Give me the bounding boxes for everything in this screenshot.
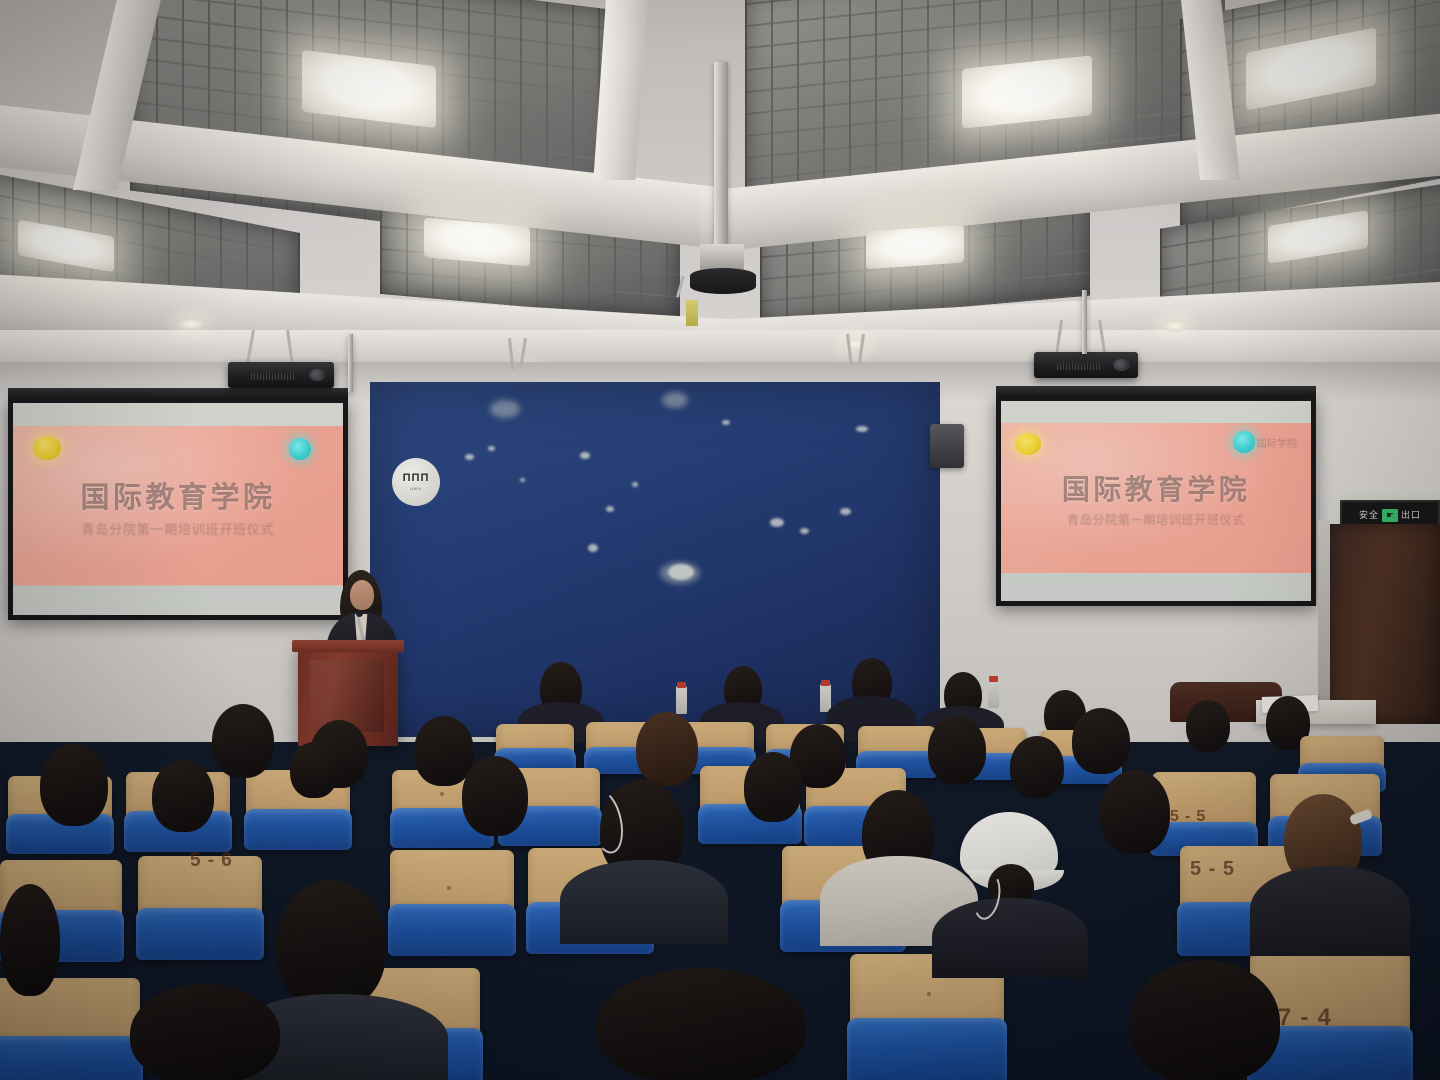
backdrop-smudge <box>770 518 784 527</box>
cyan-circle-logo <box>289 438 311 460</box>
attendee-head <box>290 742 338 798</box>
attendee-head <box>928 716 986 784</box>
seat-number-label: 5 - 5 <box>1190 858 1235 881</box>
attendee-head <box>596 968 806 1080</box>
seat-cushion <box>847 1018 1007 1080</box>
microphone-head <box>356 610 363 617</box>
attendee-head <box>636 712 698 786</box>
ceiling-light-panel <box>866 225 964 270</box>
attendee-shoulders <box>560 860 728 944</box>
seat-cushion <box>244 809 352 850</box>
seat-cushion <box>0 1036 143 1080</box>
attendee-head <box>1010 736 1064 798</box>
backdrop-smudge <box>465 454 474 460</box>
running-man-icon: ☛ <box>1382 509 1398 522</box>
projector-vent <box>1057 363 1101 370</box>
seat-cushion <box>388 904 517 956</box>
emblem-mark-text: ΠΠΠ <box>403 473 430 484</box>
left-projection-screen[interactable]: 国际教育学院 青岛分院第一期培训班开班仪式 <box>8 398 348 620</box>
left-screen-surface: 国际教育学院 青岛分院第一期培训班开班仪式 <box>13 403 343 615</box>
cyan-circle-logo <box>1233 431 1255 453</box>
projector-mount-head <box>700 244 744 270</box>
exit-sign-right-text: 出口 <box>1401 511 1421 520</box>
projector-pole-left <box>348 334 353 392</box>
left-slide-subtitle: 青岛分院第一期培训班开班仪式 <box>82 519 275 538</box>
right-screen-surface: 国际学院 国际教育学院 青岛分院第一期培训班开班仪式 <box>1001 401 1311 601</box>
right-slide-subtitle: 青岛分院第一期培训班开班仪式 <box>1067 511 1245 528</box>
door-frame <box>1318 520 1330 720</box>
gold-emblem-logo <box>1015 433 1041 455</box>
ceiling-projector-left <box>228 362 334 388</box>
emblem-sub-text: UNIV <box>410 486 422 491</box>
bottle-cap <box>677 682 686 688</box>
backdrop-smudge <box>800 528 809 534</box>
seat-cushion <box>136 908 265 960</box>
gold-emblem-logo <box>33 436 61 460</box>
backdrop-smudge <box>662 392 688 408</box>
bottle-cap <box>989 676 998 682</box>
attendee-shoulders <box>932 898 1088 978</box>
backdrop-smudge <box>606 506 614 512</box>
mount-tag <box>686 300 698 326</box>
ceiling-downlight <box>1162 320 1188 332</box>
ceiling-downlight <box>178 318 204 330</box>
backdrop-smudge <box>668 564 694 580</box>
projector-mount-plate <box>690 268 756 294</box>
attendee-head <box>1072 708 1130 774</box>
backdrop-smudge <box>722 420 730 425</box>
backdrop-smudge <box>488 446 495 451</box>
backdrop-smudge <box>490 400 520 418</box>
auditorium-seat[interactable]: 5 - 6 <box>138 856 262 954</box>
attendee-head <box>152 760 214 832</box>
left-slide-title: 国际教育学院 <box>81 474 276 516</box>
seat-screw <box>447 886 451 890</box>
attendee-head <box>1130 960 1280 1080</box>
projector-vent <box>251 373 296 380</box>
water-bottle <box>988 680 999 708</box>
auditorium-photo: ΠΠΠ UNIV 国际教育学院 青岛分院第一期培训班开班仪式 <box>0 0 1440 1080</box>
exit-sign-left-text: 安全 <box>1359 511 1379 520</box>
projector-pole-right <box>1082 290 1087 354</box>
projector-lens <box>1113 359 1130 371</box>
backdrop-smudge <box>632 482 638 487</box>
attendee-shoulders <box>1250 866 1410 956</box>
podium-top-surface <box>292 640 404 652</box>
water-bottle <box>676 686 687 714</box>
seat-screw <box>440 792 444 796</box>
bottle-cap <box>821 680 830 686</box>
left-slide-content: 国际教育学院 青岛分院第一期培训班开班仪式 <box>13 426 343 585</box>
attendee-head <box>744 752 802 822</box>
seat-number-label: 5 - 6 <box>190 850 233 872</box>
presenter-head <box>350 580 374 610</box>
attendee-head <box>414 716 474 786</box>
right-slide-content: 国际学院 国际教育学院 青岛分院第一期培训班开班仪式 <box>1001 423 1311 573</box>
backdrop-smudge <box>580 452 590 459</box>
backdrop-smudge <box>840 508 851 515</box>
backdrop-smudge <box>588 544 598 552</box>
seat-screw <box>927 992 931 996</box>
attendee-head <box>1100 770 1170 854</box>
backdrop-emblem-logo: ΠΠΠ UNIV <box>392 458 440 506</box>
projector-pole-center <box>714 62 728 252</box>
screen-roller-housing <box>8 388 348 398</box>
right-slide-title: 国际教育学院 <box>1062 468 1250 508</box>
attendee-head <box>1186 700 1230 752</box>
backdrop-smudge <box>520 478 525 482</box>
attendee-head <box>130 984 280 1080</box>
attendee-head <box>462 756 528 836</box>
right-projection-screen[interactable]: 国际学院 国际教育学院 青岛分院第一期培训班开班仪式 <box>996 396 1316 606</box>
auditorium-seat[interactable] <box>390 850 514 950</box>
side-exit-door[interactable] <box>1330 524 1440 724</box>
cyan-logo-label: 国际学院 <box>1257 435 1297 450</box>
attendee-head <box>0 884 60 996</box>
backdrop-smudge <box>856 426 868 432</box>
wall-speaker <box>930 424 964 468</box>
screen-roller-housing <box>996 386 1316 396</box>
attendee-head <box>212 704 274 778</box>
attendee-head <box>276 880 386 1010</box>
auditorium-seat[interactable] <box>858 726 936 774</box>
attendee-head <box>40 744 108 826</box>
ceiling-projector-right <box>1034 352 1138 378</box>
projector-lens <box>309 369 326 381</box>
